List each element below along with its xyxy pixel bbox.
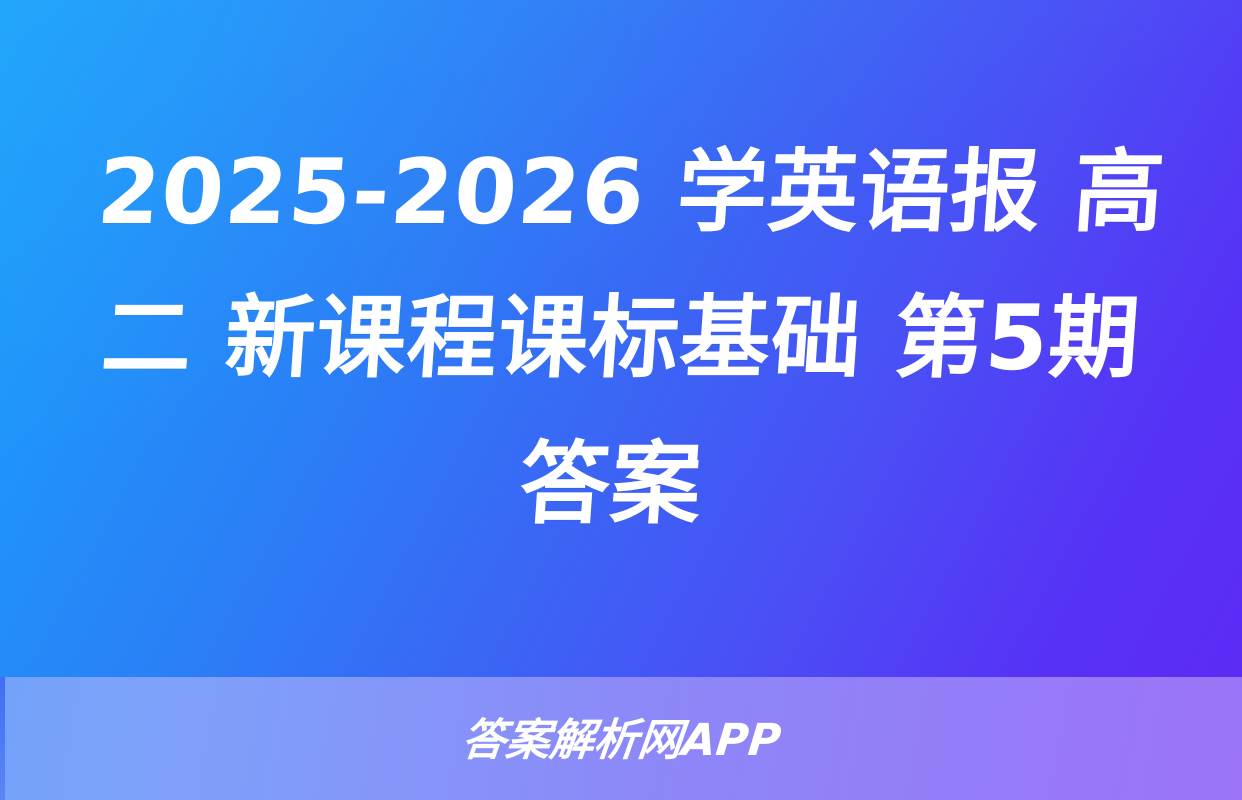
title-block: 2025-2026 学英语报 高二 新课程课标基础 第5期答案	[0, 0, 1242, 677]
page-title: 2025-2026 学英语报 高二 新课程课标基础 第5期答案	[57, 120, 1186, 558]
footer-strip: 答案解析网APP	[0, 677, 1242, 800]
answer-banner-card: 2025-2026 学英语报 高二 新课程课标基础 第5期答案 答案解析网APP	[0, 0, 1242, 800]
app-watermark-label: 答案解析网APP	[459, 719, 782, 763]
